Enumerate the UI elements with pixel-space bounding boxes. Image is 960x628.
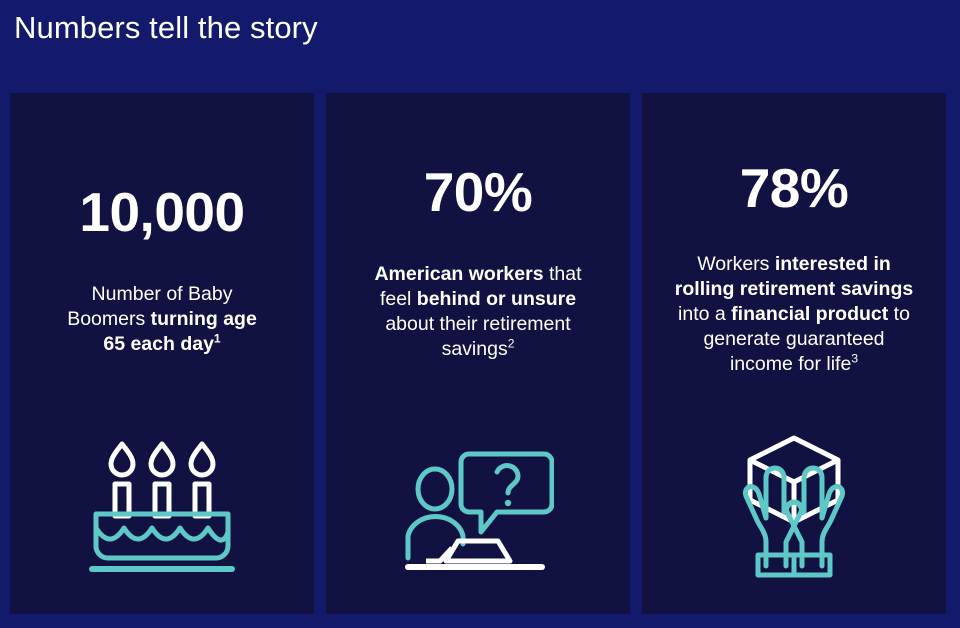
slide: Numbers tell the story 10,000 Number of … bbox=[0, 0, 960, 628]
stat-card-row: 10,000 Number of Baby Boomers turning ag… bbox=[10, 93, 946, 614]
birthday-cake-icon bbox=[88, 436, 236, 576]
stat-number-3: 78% bbox=[740, 161, 849, 216]
stat-card-3: 78% Workers interested in rolling retire… bbox=[642, 93, 946, 614]
stat-icon-2-wrap bbox=[326, 448, 630, 572]
stat-description-1: Number of Baby Boomers turning age 65 ea… bbox=[57, 282, 267, 357]
stat-card-1: 10,000 Number of Baby Boomers turning ag… bbox=[10, 93, 314, 614]
stat-icon-1-wrap bbox=[10, 436, 314, 576]
stat-description-2: American workers that feel behind or uns… bbox=[371, 262, 586, 362]
page-title: Numbers tell the story bbox=[14, 10, 318, 46]
stat-description-3: Workers interested in rolling retirement… bbox=[674, 252, 914, 377]
stat-icon-3-wrap bbox=[642, 434, 946, 580]
person-laptop-question-icon bbox=[402, 448, 554, 572]
stat-card-2: 70% American workers that feel behind or… bbox=[326, 93, 630, 614]
hands-holding-box-icon bbox=[730, 434, 858, 580]
stat-number-1: 10,000 bbox=[79, 185, 244, 240]
stat-number-2: 70% bbox=[424, 165, 533, 220]
